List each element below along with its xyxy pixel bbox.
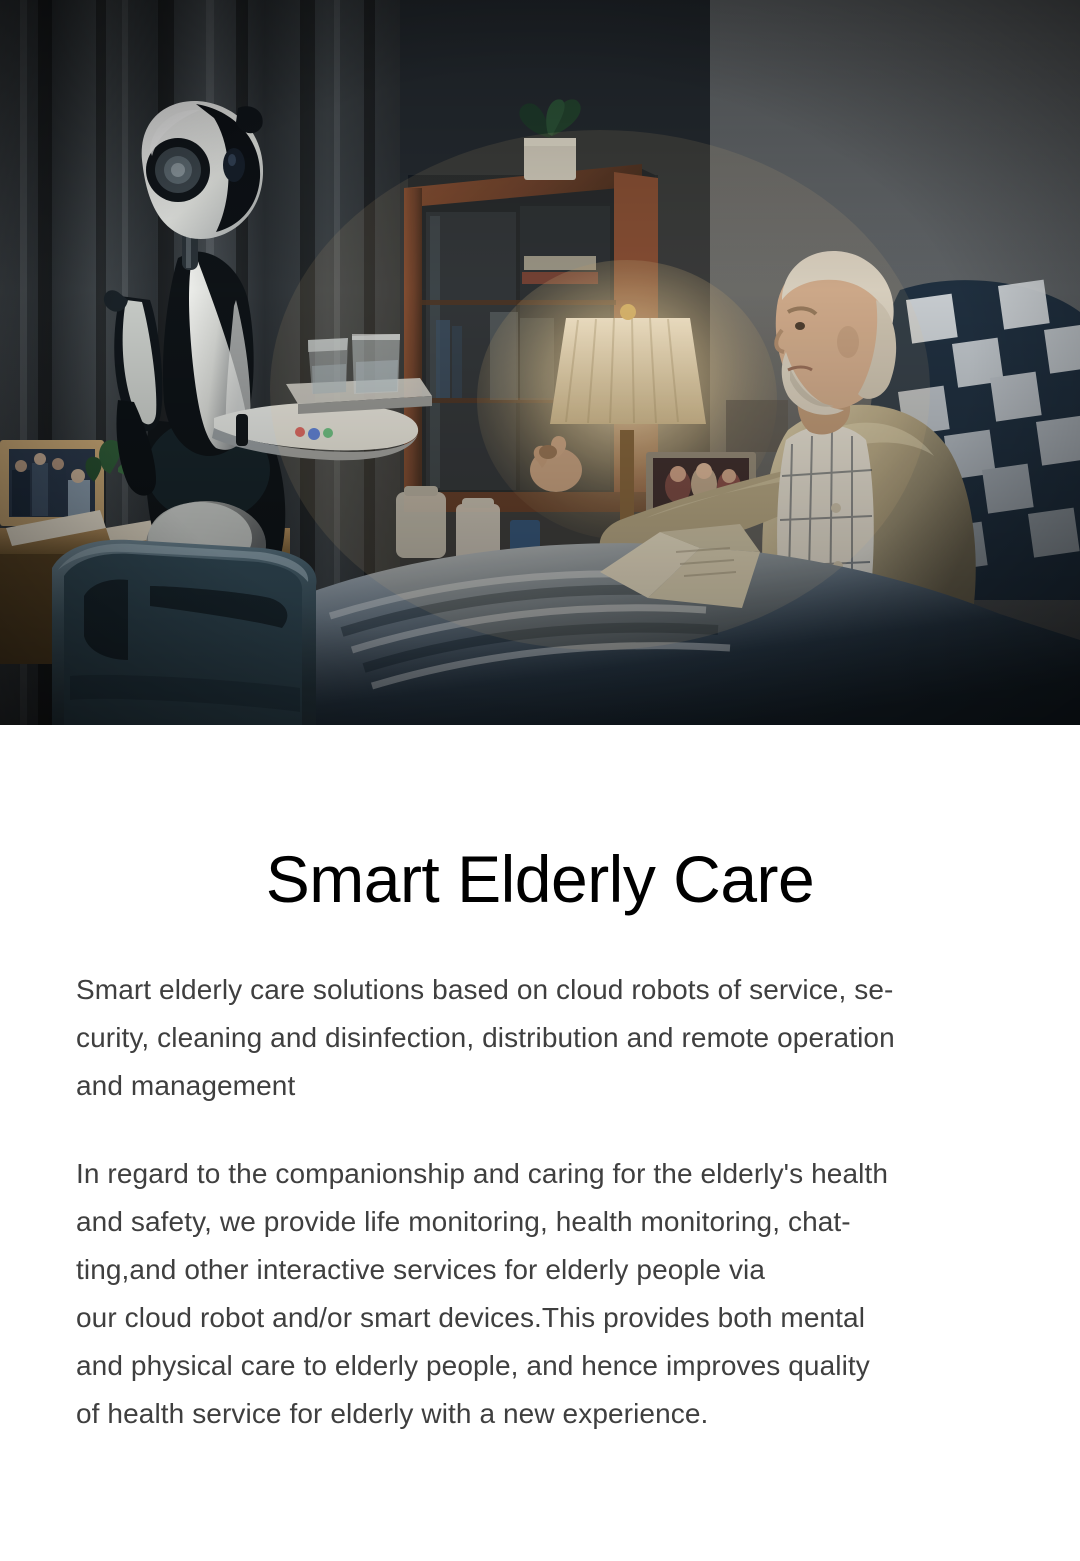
paragraph-line: ting,and other interactive services for … [76, 1246, 1004, 1294]
page-title: Smart Elderly Care [0, 846, 1080, 912]
text-content: Smart Elderly Care Smart elderly care so… [0, 846, 1080, 1438]
paragraph-intro: Smart elderly care solutions based on cl… [76, 966, 1004, 1110]
body-copy: Smart elderly care solutions based on cl… [76, 912, 1004, 1438]
paragraph-line: and physical care to elderly people, and… [76, 1342, 1004, 1390]
paragraph-line: In regard to the companionship and carin… [76, 1150, 1004, 1198]
paragraph-line: Smart elderly care solutions based on cl… [76, 966, 1004, 1014]
hero-image [0, 0, 1080, 725]
paragraph-line: curity, cleaning and disinfection, distr… [76, 1014, 1004, 1062]
paragraph-detail: In regard to the companionship and carin… [76, 1150, 1004, 1438]
hero-scene-illustration [0, 0, 1080, 725]
paragraph-line: and safety, we provide life monitoring, … [76, 1198, 1004, 1246]
paragraph-line: of health service for elderly with a new… [76, 1390, 1004, 1438]
paragraph-line: our cloud robot and/or smart devices.Thi… [76, 1294, 1004, 1342]
smart-elderly-care-page: Smart Elderly Care Smart elderly care so… [0, 0, 1080, 1561]
paragraph-line: and management [76, 1062, 1004, 1110]
